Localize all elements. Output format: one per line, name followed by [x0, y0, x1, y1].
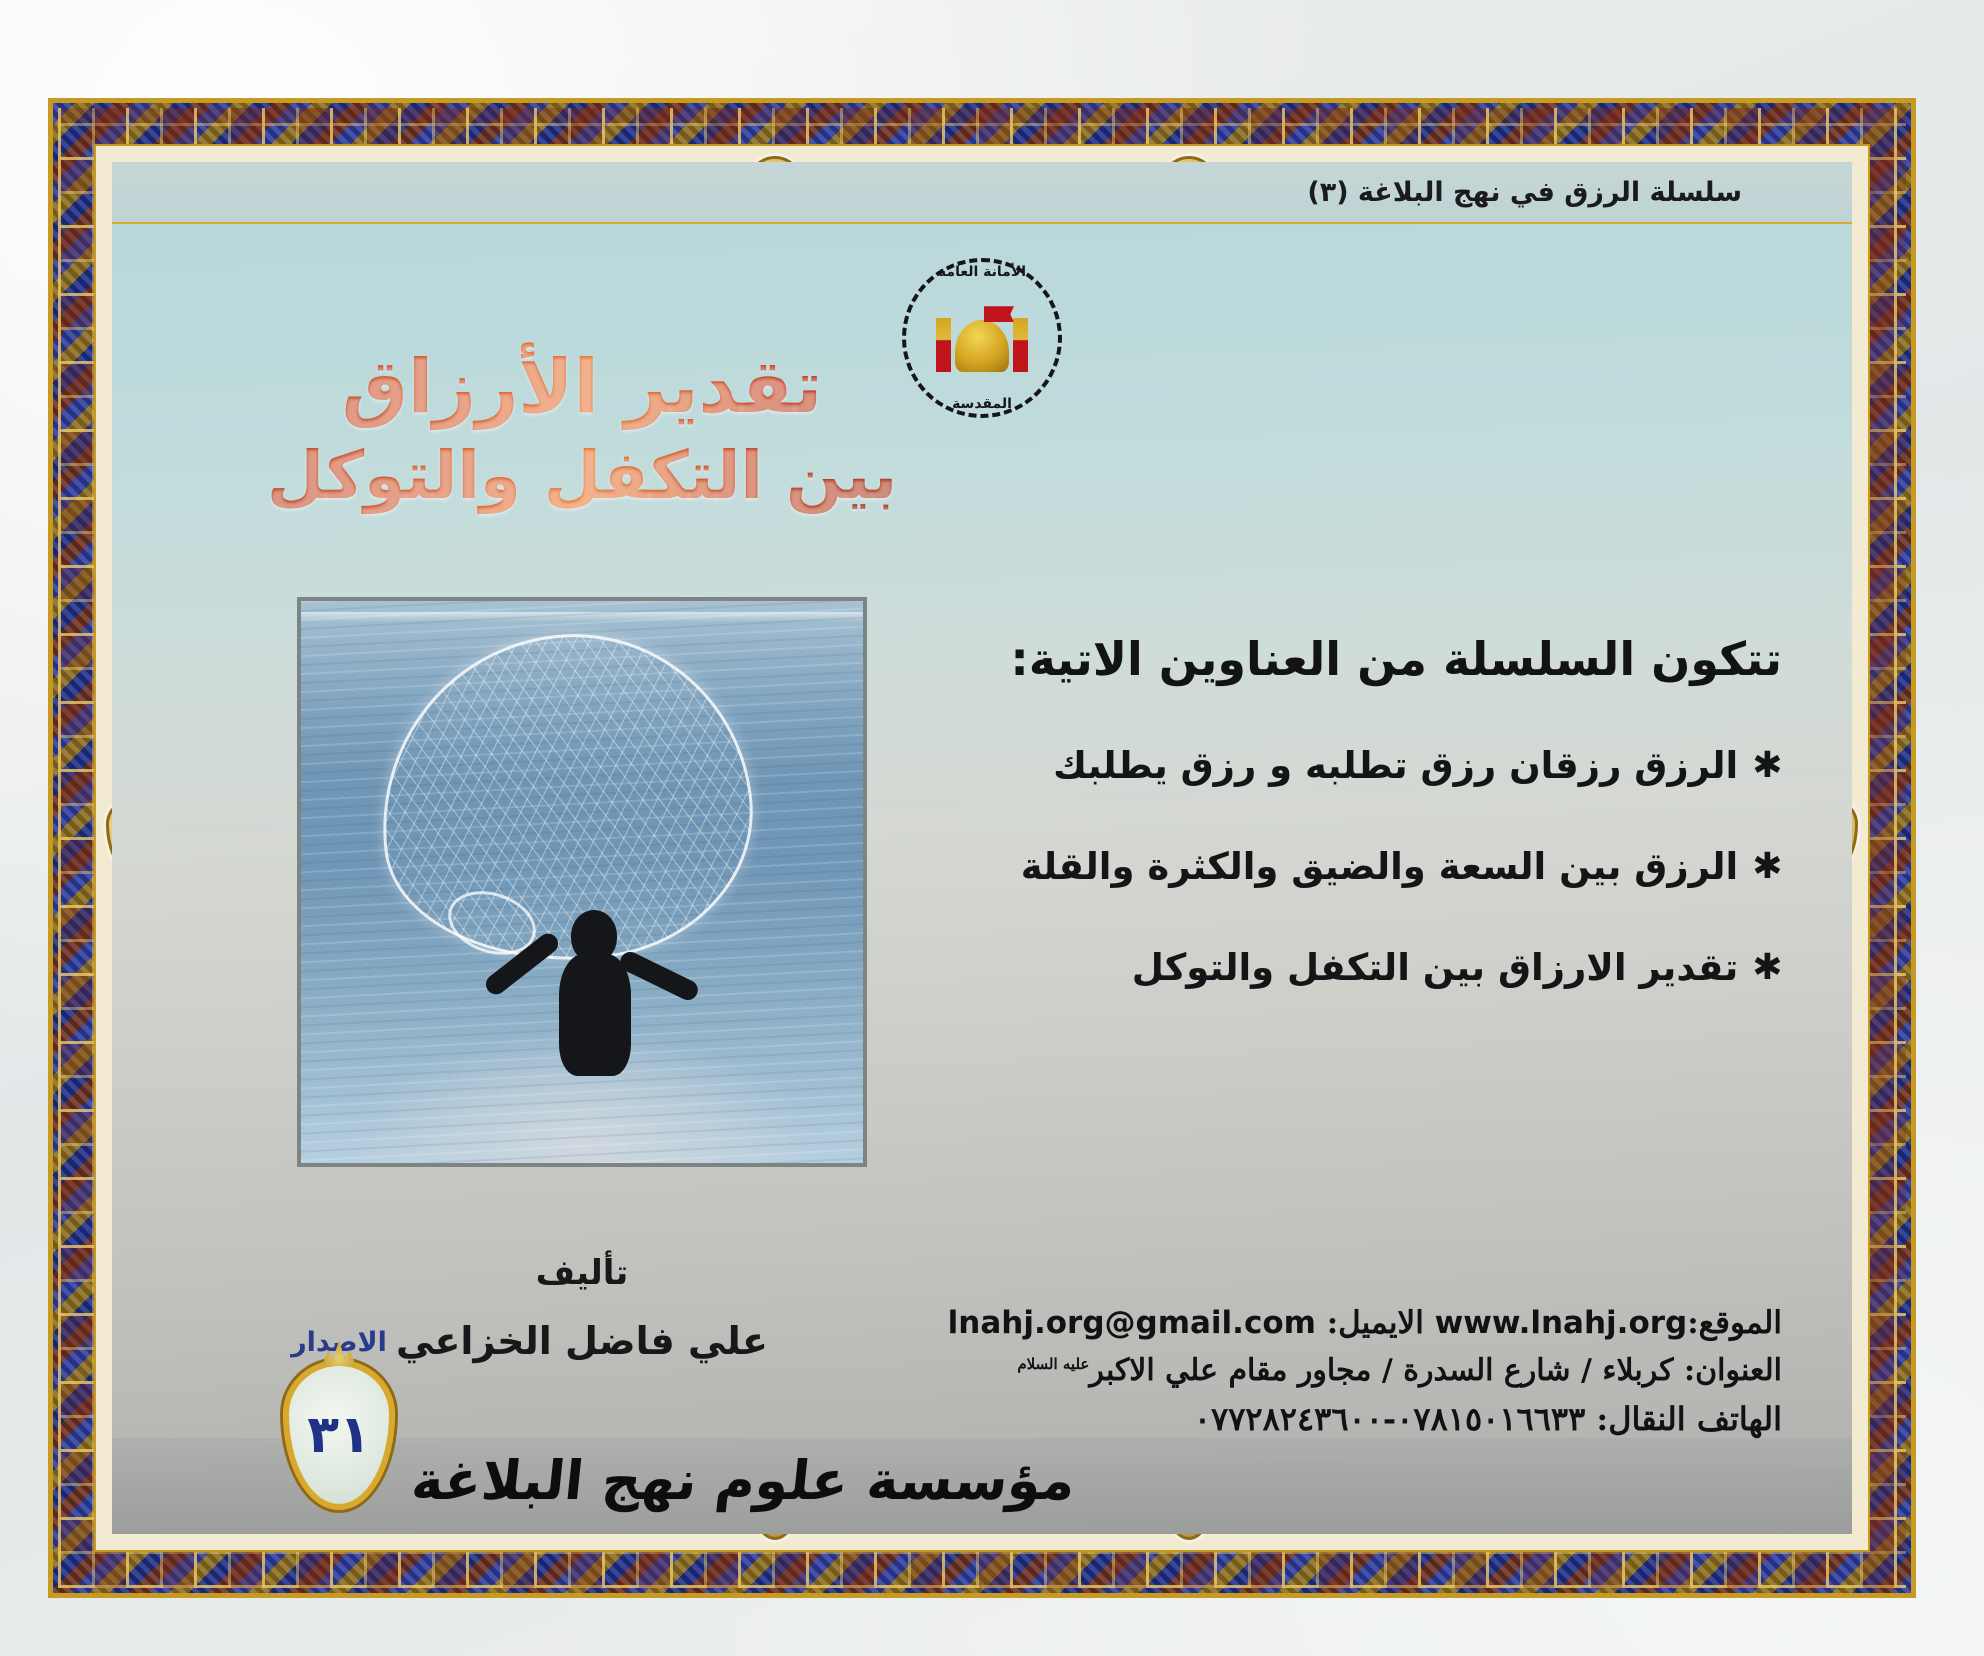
logo-top-text: الأمانة العامة	[902, 264, 1062, 280]
list-item-label: تقدير الارزاق بين التكفل والتوكل	[1132, 946, 1739, 989]
email-value[interactable]: lnahj.org@gmail.com	[948, 1305, 1316, 1341]
dome-icon	[955, 320, 1009, 372]
minaret-left-icon	[936, 318, 951, 372]
contact-block: الموقع:www.lnahj.org الايميل: lnahj.org@…	[762, 1293, 1782, 1438]
list-item-label: الرزق بين السعة والضيق والكثرة والقلة	[1021, 845, 1739, 888]
fisherman-torso	[559, 954, 631, 1076]
address-label: العنوان:	[1684, 1353, 1782, 1388]
phone-value-secondary: ٠٧٧٢٨٢٤٣٦٠٠	[1194, 1400, 1383, 1438]
edition-medallion: ٣١	[283, 1360, 395, 1510]
fisherman-silhouette	[537, 910, 649, 1090]
series-list-heading: تتكون السلسلة من العناوين الاتية:	[782, 632, 1782, 686]
asterisk-icon: ✱	[1752, 950, 1782, 986]
author-label: تأليف	[232, 1253, 932, 1293]
phone-separator: -	[1383, 1400, 1396, 1438]
asterisk-icon: ✱	[1752, 849, 1782, 885]
contact-web-line: الموقع:www.lnahj.org الايميل: lnahj.org@…	[762, 1305, 1782, 1341]
right-column: تتكون السلسلة من العناوين الاتية: ✱ الرز…	[782, 632, 1782, 1047]
website-label: الموقع:	[1687, 1305, 1782, 1341]
series-title-list: ✱ الرزق رزقان رزق تطلبه و رزق يطلبك ✱ ال…	[782, 744, 1782, 989]
list-item: ✱ الرزق رزقان رزق تطلبه و رزق يطلبك	[782, 744, 1782, 787]
address-value: كربلاء / شارع السدرة / مجاور مقام علي ال…	[1089, 1353, 1673, 1388]
ornamental-frame: سلسلة الرزق في نهج البلاغة (٣) الأمانة ا…	[48, 98, 1916, 1598]
honorific-text: عليه السلام	[1017, 1355, 1089, 1373]
flag-icon	[984, 306, 1014, 322]
asterisk-icon: ✱	[1752, 748, 1782, 784]
book-title: تقدير الأرزاق بين التكفل والتوكل	[232, 342, 932, 517]
edition-number: ٣١	[307, 1405, 370, 1465]
book-title-line-1: تقدير الأرزاق	[232, 342, 932, 432]
edition-badge: الاصدار ٣١	[234, 1327, 444, 1510]
book-title-line-2: بين التكفل والتوكل	[232, 436, 932, 517]
website-value[interactable]: www.lnahj.org	[1435, 1305, 1688, 1341]
list-item-label: الرزق رزقان رزق تطلبه و رزق يطلبك	[1053, 744, 1738, 787]
phone-label: الهاتف النقال:	[1596, 1400, 1782, 1438]
series-title: سلسلة الرزق في نهج البلاغة (٣)	[1307, 177, 1742, 208]
minaret-right-icon	[1013, 318, 1028, 372]
publisher-name: مؤسسة علوم نهج البلاغة	[409, 1449, 1079, 1512]
series-header-bar: سلسلة الرزق في نهج البلاغة (٣)	[112, 162, 1852, 224]
phone-value-primary: ٠٧٨١٥٠١٦٦٣٣	[1396, 1400, 1585, 1438]
shrine-icon	[934, 310, 1030, 372]
contact-phone-line: الهاتف النقال: ٠٧٨١٥٠١٦٦٣٣-٠٧٧٢٨٢٤٣٦٠٠	[762, 1400, 1782, 1438]
cover-content-plate: سلسلة الرزق في نهج البلاغة (٣) الأمانة ا…	[112, 162, 1852, 1534]
list-item: ✱ تقدير الارزاق بين التكفل والتوكل	[782, 946, 1782, 989]
contact-address-line: العنوان: كربلاء / شارع السدرة / مجاور مق…	[762, 1353, 1782, 1388]
email-label: الايميل:	[1327, 1305, 1424, 1341]
list-item: ✱ الرزق بين السعة والضيق والكثرة والقلة	[782, 845, 1782, 888]
